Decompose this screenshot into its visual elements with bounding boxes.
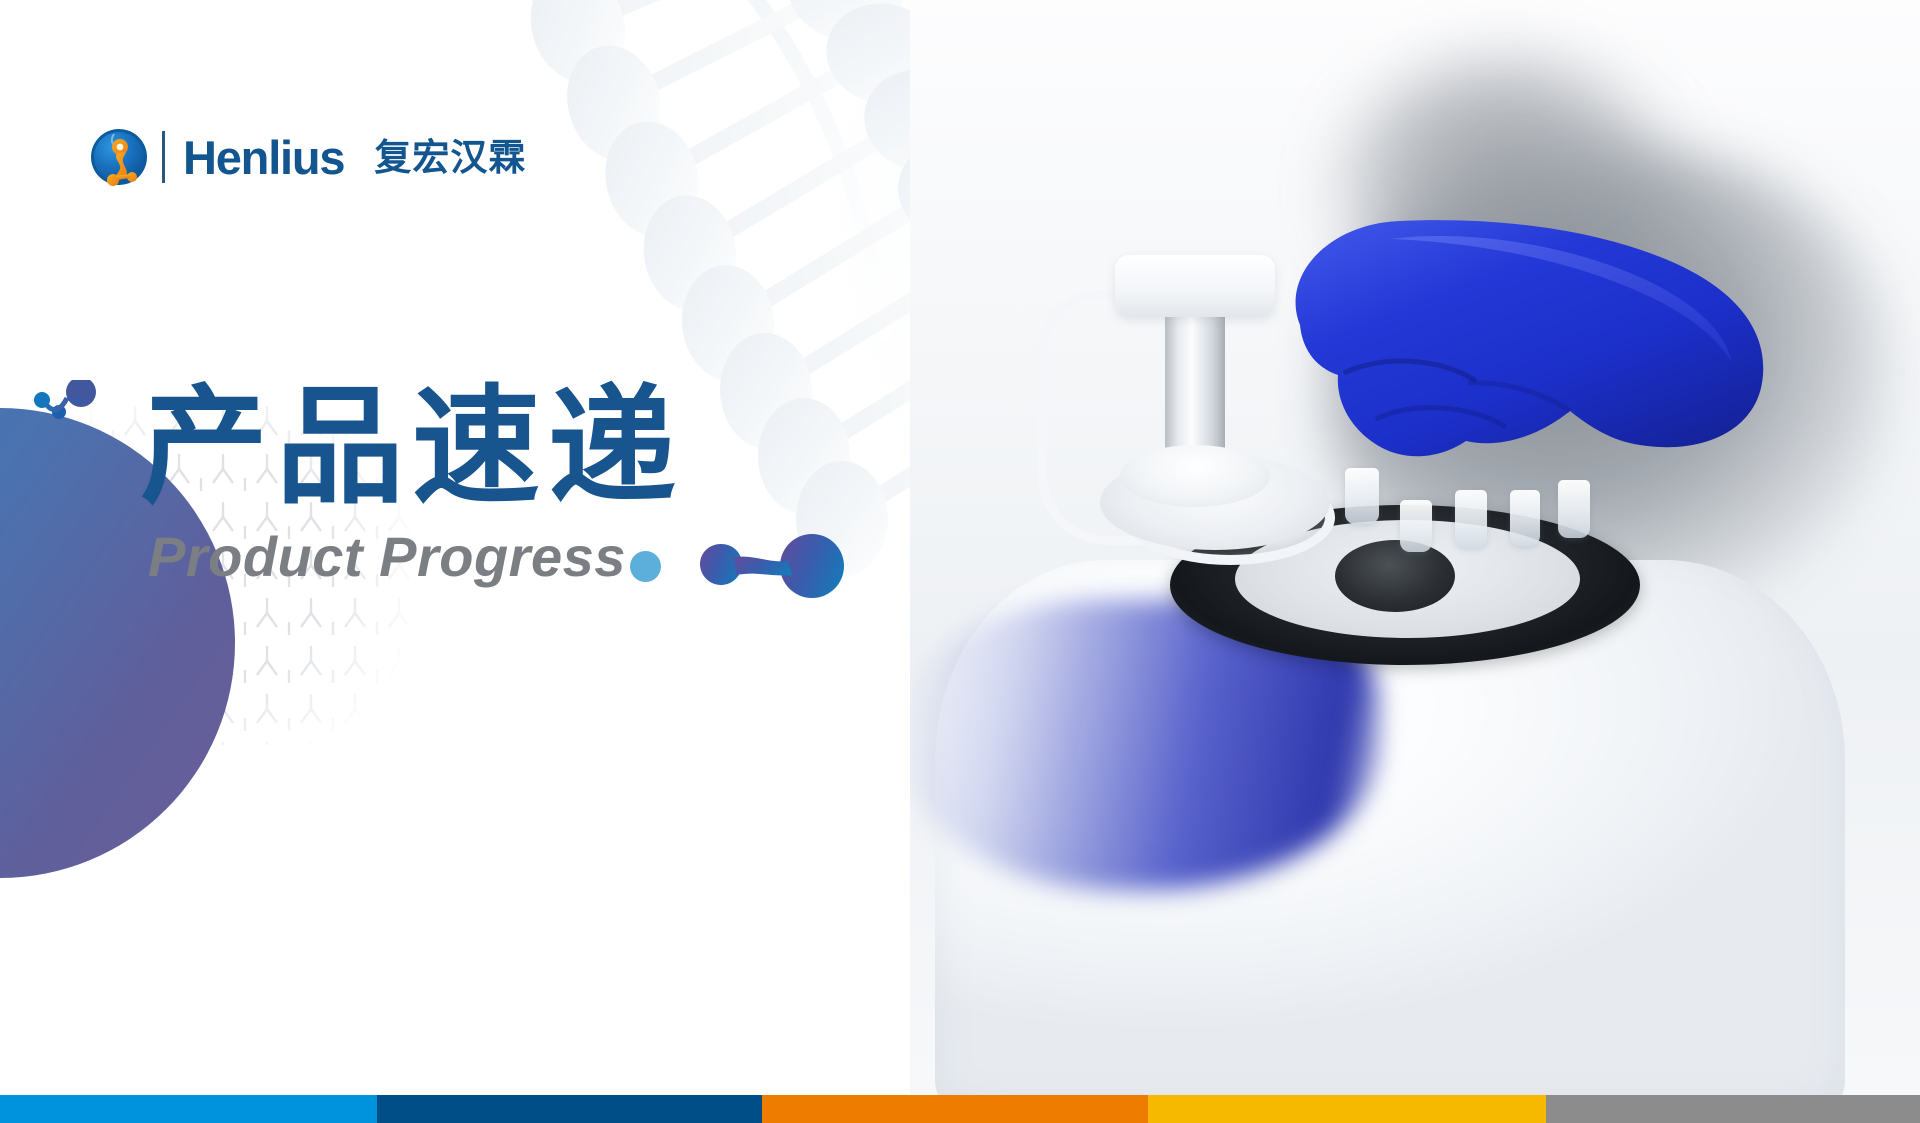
accent-dot <box>630 551 661 582</box>
segment-grey <box>1546 1095 1920 1123</box>
molecule-dumbbell-icon <box>700 533 845 599</box>
segment-dark-blue <box>377 1095 762 1123</box>
segment-light-blue <box>0 1095 377 1123</box>
segment-yellow <box>1148 1095 1546 1123</box>
mini-molecule-icon <box>33 380 108 440</box>
page-title-chinese: 产品速递 <box>140 372 684 523</box>
segment-orange <box>762 1095 1148 1123</box>
brand-logo[interactable]: Henlius 复宏汉霖 <box>90 126 526 188</box>
centrifuge-rotor-hub <box>1335 540 1455 612</box>
slide-canvas: Henlius 复宏汉霖 产品速递 Product Progress <box>0 0 1920 1123</box>
logo-chinese-name: 复宏汉霖 <box>374 139 526 176</box>
lab-centrifuge-photo <box>910 0 1920 1095</box>
page-title-english: Product Progress <box>148 524 626 589</box>
henlius-molecule-logo-icon <box>90 128 148 186</box>
logo-divider <box>162 131 165 183</box>
gloved-hand <box>1240 205 1810 545</box>
bottom-color-bar <box>0 1095 1920 1123</box>
logo-wordmark: Henlius <box>183 134 344 181</box>
